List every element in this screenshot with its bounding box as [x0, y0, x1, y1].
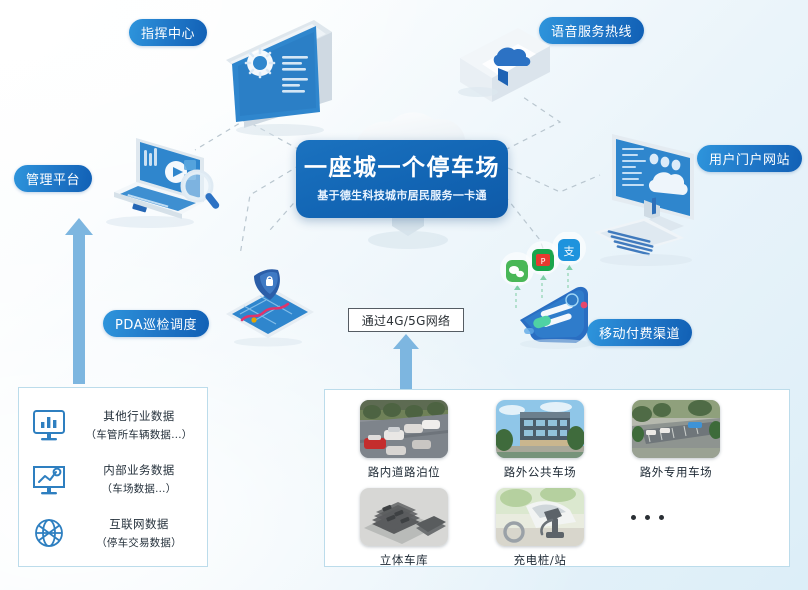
data-source-text: 互联网数据 （停车交易数据）	[77, 516, 201, 550]
scenario-cell[interactable]: 路外公共车场	[485, 400, 595, 480]
label-voice-hotline-text: 语音服务热线	[551, 21, 632, 40]
data-sources-panel: 其他行业数据 （车管所车辆数据…） 内部业务数据 （车场数据…）	[18, 387, 208, 567]
command-center-screen-illustration	[208, 16, 340, 138]
on-street-parking-photo	[360, 400, 448, 458]
scenario-label: 路外公共车场	[504, 464, 577, 480]
center-subtitle: 基于德生科技城市居民服务一卡通	[317, 187, 487, 203]
voice-hotline-device-illustration	[452, 24, 558, 116]
mobile-payment-phone-illustration: P 支	[480, 232, 624, 350]
data-source-title: 内部业务数据	[103, 462, 174, 478]
data-source-up-arrow-icon	[62, 218, 96, 384]
scenario-label: 立体车库	[380, 552, 428, 568]
label-command-center-text: 指挥中心	[141, 23, 195, 42]
network-up-arrow-icon	[390, 334, 422, 390]
data-source-title: 互联网数据	[109, 516, 169, 532]
scenario-row-2: 立体车库	[325, 488, 789, 568]
data-source-row: 其他行业数据 （车管所车辆数据…）	[29, 405, 201, 445]
globe-network-icon	[29, 513, 69, 553]
bar-chart-monitor-icon	[29, 405, 69, 445]
scenario-label: 充电桩/站	[514, 552, 567, 568]
scenario-label: 路外专用车场	[640, 464, 713, 480]
data-source-text: 其他行业数据 （车管所车辆数据…）	[77, 408, 201, 442]
data-source-text: 内部业务数据 （车场数据…）	[77, 462, 201, 496]
network-label-box: 通过4G/5G网络	[348, 308, 464, 332]
scenario-cell[interactable]: 路外专用车场	[621, 400, 731, 480]
scenario-cell[interactable]: 立体车库	[349, 488, 459, 568]
scenario-more-ellipsis	[631, 488, 664, 546]
data-source-row: 互联网数据 （停车交易数据）	[29, 513, 201, 553]
ev-charging-station-photo	[496, 488, 584, 546]
data-source-subtitle: （车管所车辆数据…）	[86, 427, 193, 442]
ellipsis-dot	[645, 515, 650, 520]
svg-text:支: 支	[564, 245, 575, 258]
label-command-center[interactable]: 指挥中心	[129, 19, 207, 46]
scenario-label: 路内道路泊位	[368, 464, 441, 480]
data-source-subtitle: （车场数据…）	[102, 481, 177, 496]
ellipsis-dot	[631, 515, 636, 520]
center-title-badge: 一座城一个停车场 基于德生科技城市居民服务一卡通	[296, 140, 508, 218]
parking-scenarios-panel: 路内道路泊位	[324, 389, 790, 567]
data-source-title: 其他行业数据	[103, 408, 174, 424]
pda-tablet-shield-illustration	[214, 262, 324, 348]
label-pda-patrol-text: PDA巡检调度	[115, 314, 197, 333]
multi-level-garage-photo	[360, 488, 448, 546]
ellipsis-dot	[659, 515, 664, 520]
scenario-row-1: 路内道路泊位	[325, 400, 789, 480]
private-off-street-lot-photo	[632, 400, 720, 458]
data-source-subtitle: （停车交易数据）	[96, 535, 182, 550]
public-off-street-lot-photo	[496, 400, 584, 458]
scenario-cell[interactable]: 充电桩/站	[485, 488, 595, 568]
network-label-text: 通过4G/5G网络	[362, 312, 451, 329]
management-laptop-illustration	[84, 124, 226, 236]
data-source-row: 内部业务数据 （车场数据…）	[29, 459, 201, 499]
infographic-canvas: P 支 指挥中心 管理平台 语音服务热线 用户	[0, 0, 808, 590]
label-pda-patrol[interactable]: PDA巡检调度	[103, 310, 209, 337]
scenario-cell[interactable]: 路内道路泊位	[349, 400, 459, 480]
label-management-platform-text: 管理平台	[26, 169, 80, 188]
center-title: 一座城一个停车场	[304, 155, 500, 180]
svg-text:P: P	[541, 257, 546, 266]
line-chart-monitor-icon	[29, 459, 69, 499]
label-management-platform[interactable]: 管理平台	[14, 165, 92, 192]
